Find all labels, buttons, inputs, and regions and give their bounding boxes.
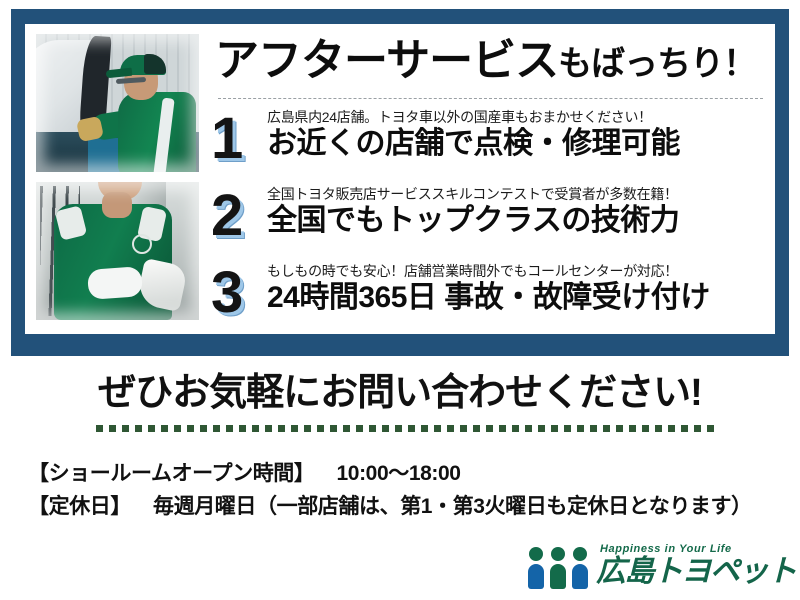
- photo-scene: [36, 34, 199, 172]
- store-info: 【ショールームオープン時間】10:00〜18:00 【定休日】毎週月曜日（一部店…: [28, 458, 778, 523]
- photo-scene: [36, 182, 199, 320]
- feature-point-subtitle: 全国トヨタ販売店サービススキルコンテストで受賞者が多数在籍！: [267, 185, 679, 203]
- call-to-action: ぜひお気軽にお問い合わせください!: [0, 374, 800, 412]
- logo-person-body: [528, 564, 544, 589]
- showroom-hours-line: 【ショールームオープン時間】10:00〜18:00: [28, 458, 778, 491]
- logo-person-head: [551, 547, 565, 561]
- call-to-action-dotted-underline: [96, 425, 720, 432]
- feature-point-title: 全国でもトップクラスの技術力: [267, 203, 679, 238]
- feature-point-number: 3: [211, 264, 263, 322]
- uniform-emblem-shape: [132, 234, 152, 254]
- white-gloves-shape: [87, 266, 143, 300]
- feature-point-subtitle: もしもの時でも安心！店舗営業時間外でもコールセンターが対応！: [267, 262, 710, 280]
- headline-divider: [218, 98, 763, 99]
- feature-point-number: 1: [211, 110, 263, 168]
- showroom-hours-label: 【ショールームオープン時間】: [28, 462, 315, 485]
- technician-neck-shape: [102, 192, 132, 218]
- photo-mechanic-inspecting-car: [36, 34, 199, 172]
- feature-point-subtitle: 広島県内24店舗。トヨタ車以外の国産車もおまかせください！: [267, 108, 680, 126]
- logo-person-3-icon: [572, 547, 588, 589]
- closed-days-value: 毎週月曜日（一部店舗は、第1・第3火曜日も定休日となります）: [153, 495, 752, 518]
- closed-days-label: 【定休日】: [28, 495, 131, 518]
- closed-days-line: 【定休日】毎週月曜日（一部店舗は、第1・第3火曜日も定休日となります）: [28, 491, 778, 524]
- feature-point-1: 1 広島県内24店舗。トヨタ車以外の国産車もおまかせください！ お近くの店舗で点…: [211, 108, 771, 185]
- advertisement-banner: アフターサービスもばっちり！ 1 広島県内24店舗。トヨタ車以外の国産車もおまか…: [0, 0, 800, 600]
- logo-person-1-icon: [528, 547, 544, 589]
- hero-panel-frame: アフターサービスもばっちり！ 1 広島県内24店舗。トヨタ車以外の国産車もおまか…: [11, 9, 789, 356]
- logo-people-icon: [528, 547, 590, 589]
- feature-point-3: 3 もしもの時でも安心！店舗営業時間外でもコールセンターが対応！ 24時間365…: [211, 262, 771, 334]
- hero-panel: アフターサービスもばっちり！ 1 広島県内24店舗。トヨタ車以外の国産車もおまか…: [25, 24, 775, 334]
- feature-point-title: 24時間365日 事故・故障受け付け: [267, 280, 710, 315]
- logo-person-body: [572, 564, 588, 589]
- logo-person-2-icon: [550, 547, 566, 589]
- hero-headline: アフターサービスもばっちり！: [215, 36, 755, 85]
- showroom-hours-value: 10:00〜18:00: [337, 462, 461, 485]
- photo-column: [36, 34, 199, 324]
- feature-point-text: もしもの時でも安心！店舗営業時間外でもコールセンターが対応！ 24時間365日 …: [267, 262, 710, 316]
- feature-point-text: 全国トヨタ販売店サービススキルコンテストで受賞者が多数在籍！ 全国でもトップクラ…: [267, 185, 679, 239]
- logo-person-head: [573, 547, 587, 561]
- photo-technician-with-white-gloves: [36, 182, 199, 320]
- feature-point-2: 2 全国トヨタ販売店サービススキルコンテストで受賞者が多数在籍！ 全国でもトップ…: [211, 185, 771, 262]
- headline-primary: アフターサービス: [215, 36, 558, 85]
- feature-point-list: 1 広島県内24店舗。トヨタ車以外の国産車もおまかせください！ お近くの店舗で点…: [211, 108, 771, 334]
- logo-company-name: 広島トヨペット: [596, 557, 796, 587]
- logo-person-head: [529, 547, 543, 561]
- logo-tagline: Happiness in Your Life: [600, 543, 732, 555]
- feature-point-number: 2: [211, 187, 263, 245]
- logo-person-body: [550, 564, 566, 589]
- feature-point-text: 広島県内24店舗。トヨタ車以外の国産車もおまかせください！ お近くの店舗で点検・…: [267, 108, 680, 162]
- call-to-action-text: ぜひお気軽にお問い合わせください!: [98, 374, 702, 412]
- feature-point-title: お近くの店舗で点検・修理可能: [267, 126, 680, 161]
- company-logo: Happiness in Your Life 広島トヨペット: [528, 543, 790, 593]
- headline-secondary: もばっちり！: [558, 45, 756, 83]
